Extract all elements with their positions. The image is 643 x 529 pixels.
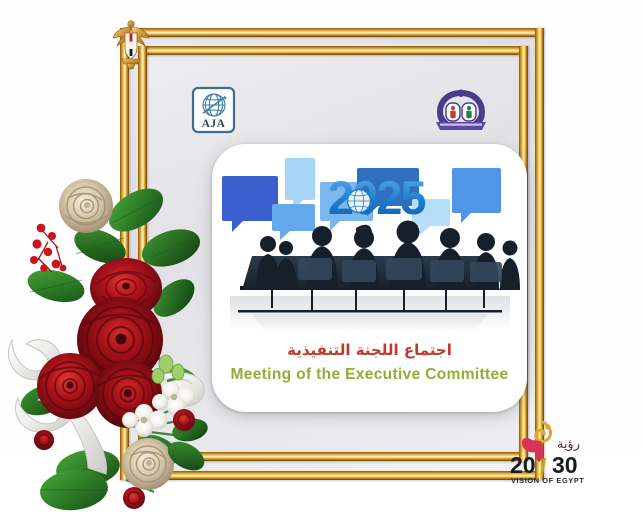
- svg-text:AJA: AJA: [202, 118, 226, 130]
- rose-bouquet-decoration: [8, 168, 223, 513]
- card-title-english: Meeting of the Executive Committee: [212, 366, 527, 384]
- card-title-arabic: اجتماع اللجنة التنفيذية: [212, 341, 527, 359]
- vision-tagline: VISION OF EGYPT: [511, 476, 584, 485]
- egypt-vision-2030-logo: رؤية 20 / 30 VISION OF EGYPT: [508, 418, 594, 486]
- aja-logo: AJA: [191, 86, 236, 134]
- red-rose-lower-left: [37, 353, 103, 419]
- vision-number-right: 30: [552, 452, 578, 478]
- cream-rose-top: [59, 179, 113, 233]
- conference-emblem-logo: [430, 86, 492, 134]
- meeting-card: 2025: [212, 144, 527, 412]
- eagle-of-saladin-icon: [111, 18, 151, 70]
- vision-number-left: 20: [510, 452, 536, 478]
- meeting-illustration: 2025: [212, 144, 527, 340]
- year-badge-2025: 2025: [328, 171, 425, 224]
- berry-cluster: [30, 224, 66, 272]
- announcement-card-page: AJA: [0, 0, 643, 529]
- svg-text:2025: 2025: [328, 171, 425, 224]
- vision-arabic-word: رؤية: [557, 437, 580, 452]
- cream-rose-bottom: [122, 438, 174, 490]
